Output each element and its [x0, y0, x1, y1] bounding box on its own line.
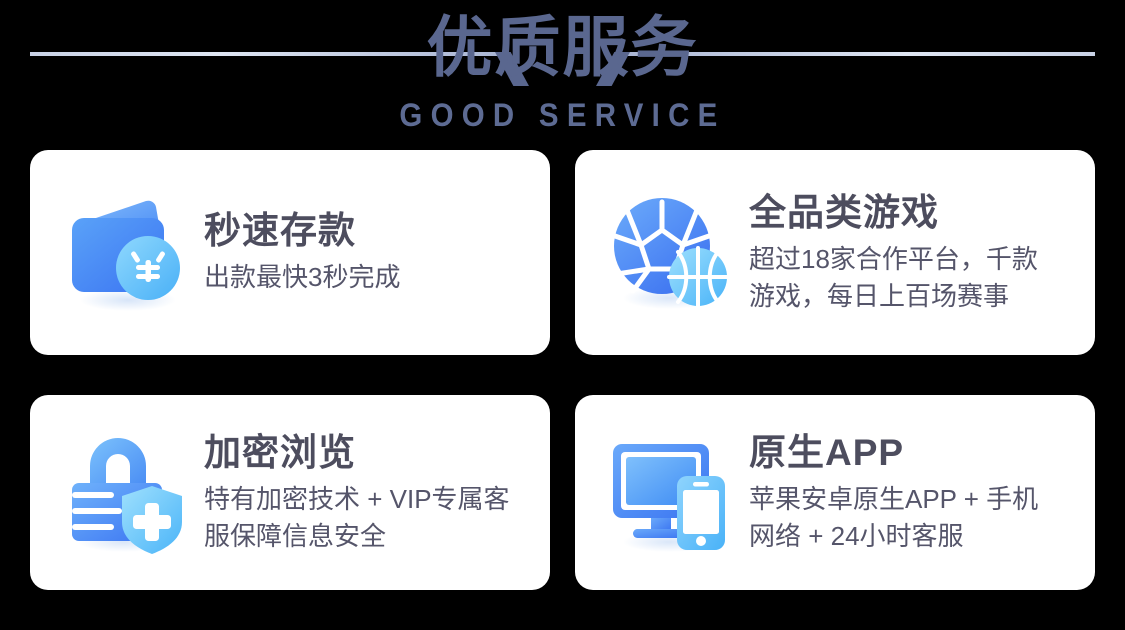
feature-card-games[interactable]: 全品类游戏 超过18家合作平台，千款 游戏，每日上百场赛事	[575, 150, 1095, 355]
card-subtitle: 特有加密技术 + VIP专属客 服保障信息安全	[204, 481, 532, 555]
card-subtitle: 苹果安卓原生APP + 手机 网络 + 24小时客服	[749, 481, 1077, 555]
card-text-block: 加密浏览 特有加密技术 + VIP专属客 服保障信息安全	[204, 431, 532, 555]
monitor-phone-icon	[605, 428, 735, 558]
card-text-block: 秒速存款 出款最快3秒完成	[204, 209, 532, 296]
feature-card-encryption[interactable]: 加密浏览 特有加密技术 + VIP专属客 服保障信息安全	[30, 395, 550, 590]
feature-card-native-app[interactable]: 原生APP 苹果安卓原生APP + 手机 网络 + 24小时客服	[575, 395, 1095, 590]
card-subtitle-line: 网络 + 24小时客服	[749, 518, 1077, 555]
card-subtitle-line: 游戏，每日上百场赛事	[749, 278, 1077, 315]
card-text-block: 原生APP 苹果安卓原生APP + 手机 网络 + 24小时客服	[749, 431, 1077, 555]
card-title: 原生APP	[749, 431, 1077, 475]
page-title: 优质服务	[0, 8, 1125, 86]
card-subtitle: 出款最快3秒完成	[204, 259, 532, 296]
lock-shield-icon	[60, 428, 190, 558]
wallet-icon	[60, 188, 190, 318]
card-title: 秒速存款	[204, 209, 532, 253]
card-subtitle-line: 服保障信息安全	[204, 518, 532, 555]
card-subtitle: 超过18家合作平台，千款 游戏，每日上百场赛事	[749, 241, 1077, 315]
card-subtitle-line: 出款最快3秒完成	[204, 259, 532, 296]
page-subtitle: GOOD SERVICE	[45, 96, 1080, 134]
promo-banner: 优质服务 GOOD SERVICE	[0, 0, 1125, 630]
banner-header: 优质服务 GOOD SERVICE	[0, 0, 1125, 145]
feature-card-deposit[interactable]: 秒速存款 出款最快3秒完成	[30, 150, 550, 355]
card-title: 加密浏览	[204, 431, 532, 475]
card-subtitle-line: 苹果安卓原生APP + 手机	[749, 481, 1077, 518]
feature-card-grid: 秒速存款 出款最快3秒完成	[30, 150, 1095, 590]
card-title: 全品类游戏	[749, 191, 1077, 235]
soccer-basketball-icon	[605, 188, 735, 318]
card-subtitle-line: 超过18家合作平台，千款	[749, 241, 1077, 278]
card-subtitle-line: 特有加密技术 + VIP专属客	[204, 481, 532, 518]
card-text-block: 全品类游戏 超过18家合作平台，千款 游戏，每日上百场赛事	[749, 191, 1077, 315]
